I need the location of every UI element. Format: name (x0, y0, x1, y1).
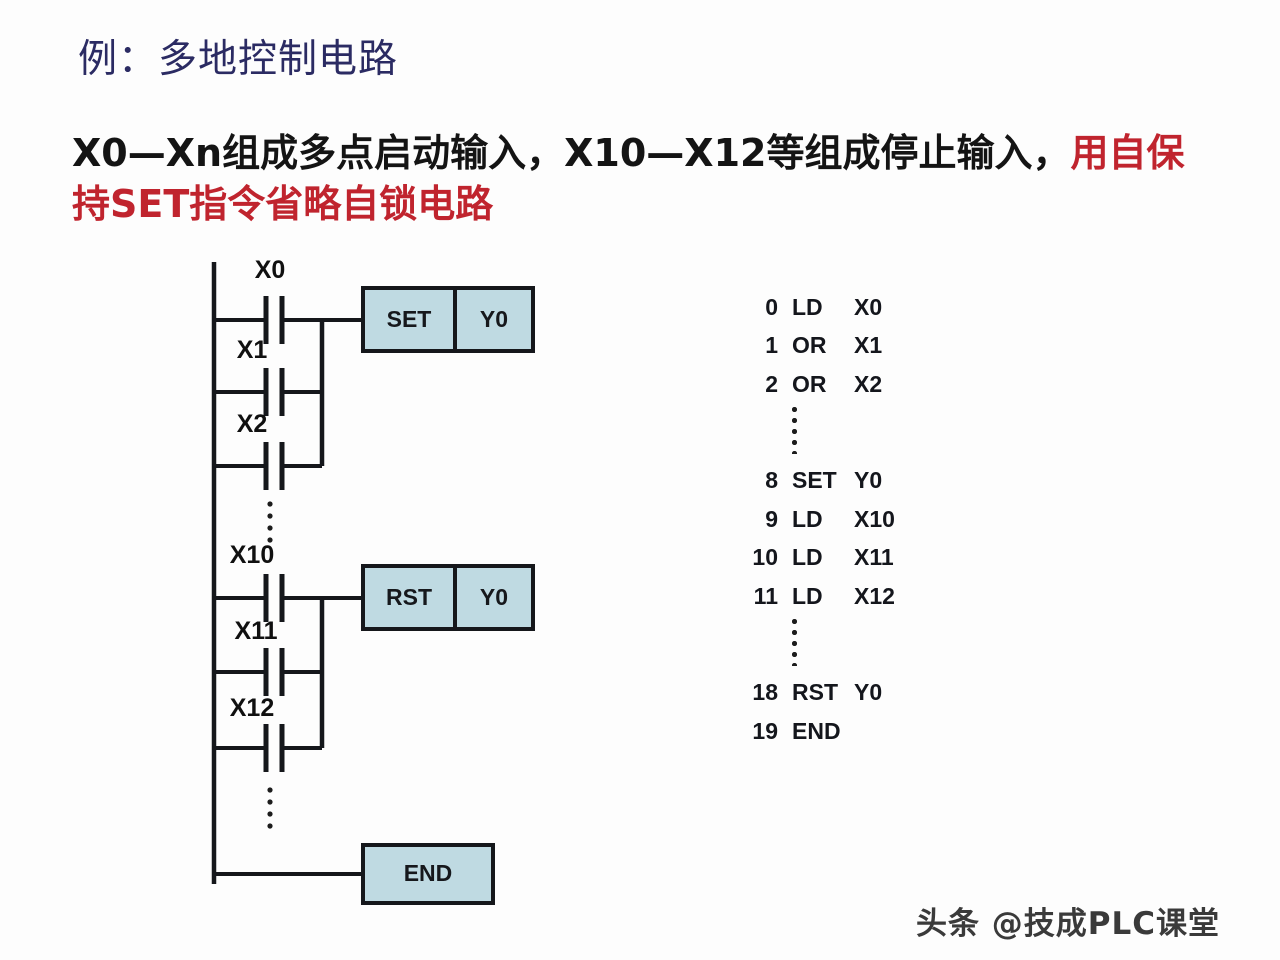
instruction-row: 9 LD X10 (732, 500, 895, 539)
instruction-step-number: 8 (732, 467, 792, 494)
contact-label-x2: X2 (237, 410, 268, 438)
instruction-operand: X1 (854, 332, 882, 359)
instruction-mnemonic: LD (792, 583, 854, 610)
instruction-step-number: 0 (732, 294, 792, 321)
instruction-operand: X11 (854, 544, 894, 571)
instruction-row: 10 LD X11 (732, 539, 895, 578)
instruction-box-set-label: SET (387, 306, 432, 332)
contact-label-x10: X10 (230, 541, 274, 569)
instruction-mnemonic: OR (792, 371, 854, 398)
instruction-mnemonic: LD (792, 506, 854, 533)
instruction-operand: X10 (854, 506, 895, 533)
contact-label-x11: X11 (234, 617, 277, 645)
instruction-step-number: 11 (732, 583, 792, 610)
instruction-row: 8 SET Y0 (732, 462, 895, 501)
instruction-row: 11 LD X12 (732, 577, 895, 616)
ladder-ellipsis-lower (267, 787, 272, 828)
instruction-operand: X12 (854, 583, 895, 610)
contact-label-x0: X0 (255, 256, 286, 284)
instruction-row: 19 END (732, 712, 895, 751)
instruction-box-rst-label: RST (386, 584, 432, 610)
instruction-operand: X0 (854, 294, 882, 321)
instruction-step-number: 18 (732, 679, 792, 706)
instruction-operand: X2 (854, 371, 882, 398)
instruction-step-number: 2 (732, 371, 792, 398)
ladder-ellipsis-upper (267, 501, 272, 542)
instruction-mnemonic: SET (792, 467, 854, 494)
instruction-mnemonic: END (792, 718, 854, 745)
contact-label-x12: X12 (230, 694, 274, 722)
instruction-row: 2 OR X2 (732, 365, 895, 404)
ladder-diagram: X0 X1 X2 SET Y0 (0, 0, 720, 960)
instruction-step-number: 19 (732, 718, 792, 745)
instruction-mnemonic: RST (792, 679, 854, 706)
instruction-operand: Y0 (854, 467, 882, 494)
instruction-list-ellipsis-upper (732, 404, 895, 462)
contact-label-x1: X1 (237, 336, 268, 364)
instruction-list-ellipsis-lower (732, 616, 895, 674)
vertical-dots-icon (792, 404, 797, 454)
instruction-row: 18 RST Y0 (732, 674, 895, 713)
instruction-row: 1 OR X1 (732, 327, 895, 366)
instruction-box-set-operand: Y0 (480, 306, 508, 332)
instruction-step-number: 10 (732, 544, 792, 571)
instruction-operand: Y0 (854, 679, 882, 706)
instruction-box-end-label: END (404, 860, 453, 886)
instruction-mnemonic: LD (792, 294, 854, 321)
slide-canvas: 例：多地控制电路 X0—Xn组成多点启动输入，X10—X12等组成停止输入，用自… (0, 0, 1280, 960)
instruction-list: 0 LD X0 1 OR X1 2 OR X2 8 SET Y0 9 LD X1… (732, 288, 895, 751)
instruction-mnemonic: OR (792, 332, 854, 359)
watermark: 头条 @技成PLC课堂 (916, 898, 1220, 943)
instruction-box-rst-operand: Y0 (480, 584, 508, 610)
instruction-step-number: 1 (732, 332, 792, 359)
instruction-step-number: 9 (732, 506, 792, 533)
vertical-dots-icon (792, 616, 797, 666)
instruction-mnemonic: LD (792, 544, 854, 571)
instruction-row: 0 LD X0 (732, 288, 895, 327)
